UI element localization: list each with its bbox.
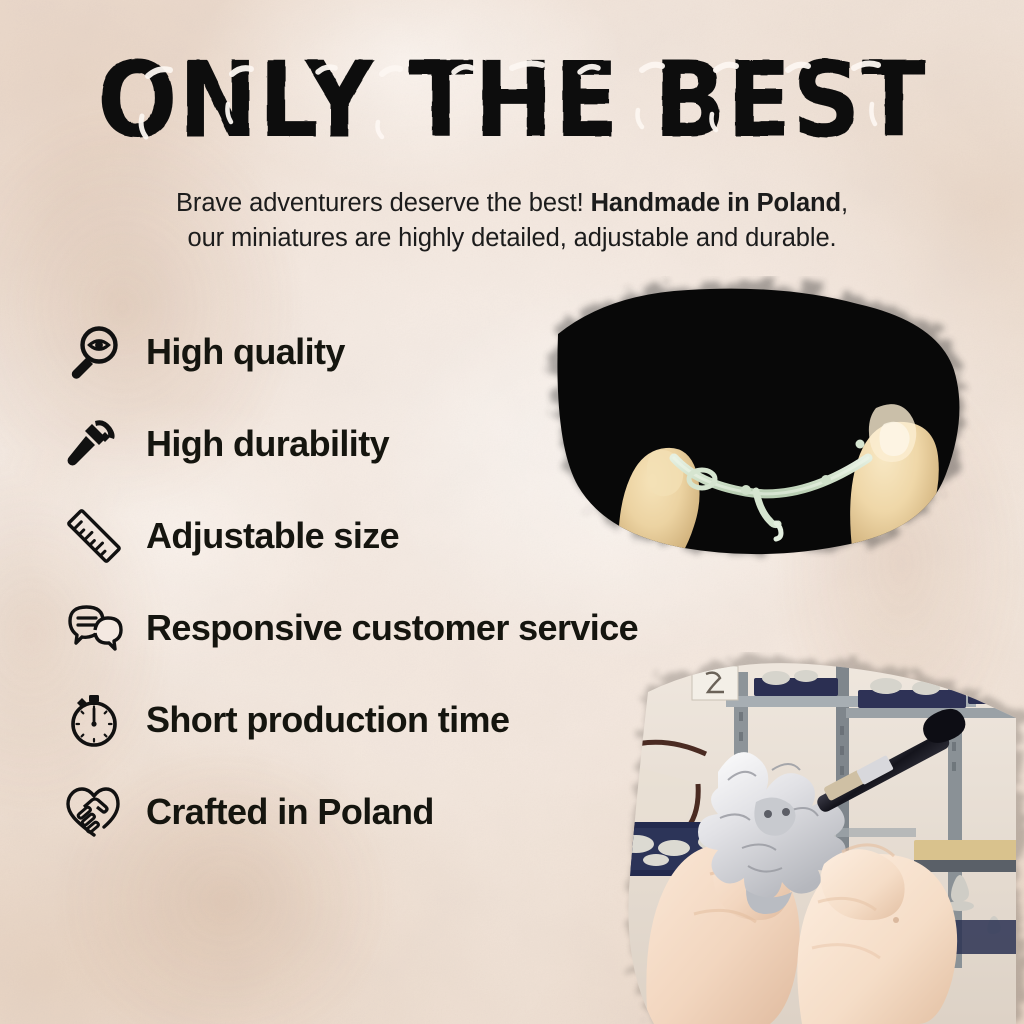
hammer-icon [62,412,126,476]
subtitle-highlight: Handmade in Poland [591,189,841,217]
feature-label: Short production time [146,699,509,741]
stopwatch-icon [62,688,126,752]
subtitle: Brave adventurers deserve the best! Hand… [0,186,1024,256]
miniature-flexibility-photo [524,276,992,606]
feature-label: Crafted in Poland [146,791,434,833]
ruler-icon [62,504,126,568]
subtitle-line-1-tail: , [841,189,848,217]
photo-bottom-content [596,652,1024,1024]
subtitle-line-2: our miniatures are highly detailed, adju… [0,221,1024,256]
subtitle-line-1: Brave adventurers deserve the best! Hand… [0,186,1024,221]
feature-label: Responsive customer service [146,607,638,649]
workshop-painting-photo [596,652,1024,1024]
page-title-text: ONLY THE BEST [97,44,927,161]
page-title: ONLY THE BEST [0,44,1024,164]
kraft-paper-sliver [596,715,634,970]
feature-label: Adjustable size [146,515,399,557]
subtitle-line-1-lead: Brave adventurers deserve the best! [176,189,591,217]
header: ONLY THE BEST [0,0,1024,256]
speech-bubbles-icon [62,596,126,660]
feature-label: High durability [146,423,389,465]
page-title-graphic: ONLY THE BEST [82,44,942,162]
infographic-poster: ONLY THE BEST [0,0,1024,1024]
feature-label: High quality [146,331,345,373]
magnifier-eye-icon [62,320,126,384]
heart-handshake-icon [62,780,126,844]
